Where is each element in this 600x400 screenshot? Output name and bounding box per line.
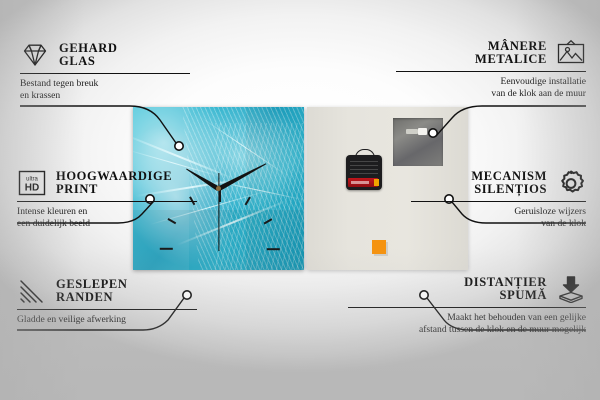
ultra-hd-icon: ultra HD bbox=[17, 168, 47, 198]
divider bbox=[348, 307, 586, 308]
feature-manere-metalice: MÂNERE METALICE Eenvoudige installatie v… bbox=[396, 38, 586, 100]
feature-description: Gladde en veilige afwerking bbox=[17, 314, 197, 326]
infographic-canvas: GEHARD GLAS Bestand tegen breuk en krass… bbox=[0, 0, 600, 400]
feature-description: Maakt het behouden van een gelijke afsta… bbox=[348, 312, 586, 335]
divider bbox=[411, 201, 586, 202]
divider bbox=[396, 71, 586, 72]
divider bbox=[17, 309, 197, 310]
beveled-edges-icon bbox=[17, 276, 47, 306]
feature-title: GEHARD GLAS bbox=[59, 42, 117, 69]
feature-title: DISTANȚIER SPUMĂ bbox=[464, 276, 547, 303]
metal-hanger bbox=[393, 118, 443, 166]
picture-frame-icon bbox=[556, 38, 586, 68]
feature-title: MÂNERE METALICE bbox=[475, 40, 547, 67]
spacer-arrow-icon bbox=[556, 274, 586, 304]
feature-description: Geruisloze wijzers van de klok bbox=[411, 206, 586, 229]
feature-title: HOOGWAARDIGE PRINT bbox=[56, 170, 172, 197]
feature-description: Bestand tegen breuk en krassen bbox=[20, 78, 190, 101]
divider bbox=[20, 73, 190, 74]
feature-description: Eenvoudige installatie van de klok aan d… bbox=[396, 76, 586, 99]
gear-icon bbox=[556, 168, 586, 198]
battery bbox=[348, 178, 378, 187]
foam-spacer bbox=[372, 240, 386, 254]
clock-second-hand bbox=[218, 189, 219, 251]
divider bbox=[17, 201, 197, 202]
clock-center-pin bbox=[216, 186, 221, 191]
quartz-mechanism bbox=[346, 155, 382, 190]
feature-mecanism-silentios: MECANISM SILENȚIOS Geruisloze wijzers va… bbox=[411, 168, 586, 230]
svg-text:HD: HD bbox=[25, 183, 39, 194]
diamond-icon bbox=[20, 40, 50, 70]
feature-gehard-glas: GEHARD GLAS Bestand tegen breuk en krass… bbox=[20, 40, 190, 102]
clock-minute-hand bbox=[217, 161, 267, 191]
feature-geslepen-randen: GESLEPEN RANDEN Gladde en veilige afwerk… bbox=[17, 276, 197, 326]
feature-hoogwaardige-print: ultra HD HOOGWAARDIGE PRINT Intense kleu… bbox=[17, 168, 197, 230]
feature-distantier-spuma: DISTANȚIER SPUMĂ Maakt het behouden van … bbox=[348, 274, 586, 336]
feature-title: MECANISM SILENȚIOS bbox=[471, 170, 547, 197]
feature-title: GESLEPEN RANDEN bbox=[56, 278, 128, 305]
feature-description: Intense kleuren en een duidelijk beeld bbox=[17, 206, 197, 229]
